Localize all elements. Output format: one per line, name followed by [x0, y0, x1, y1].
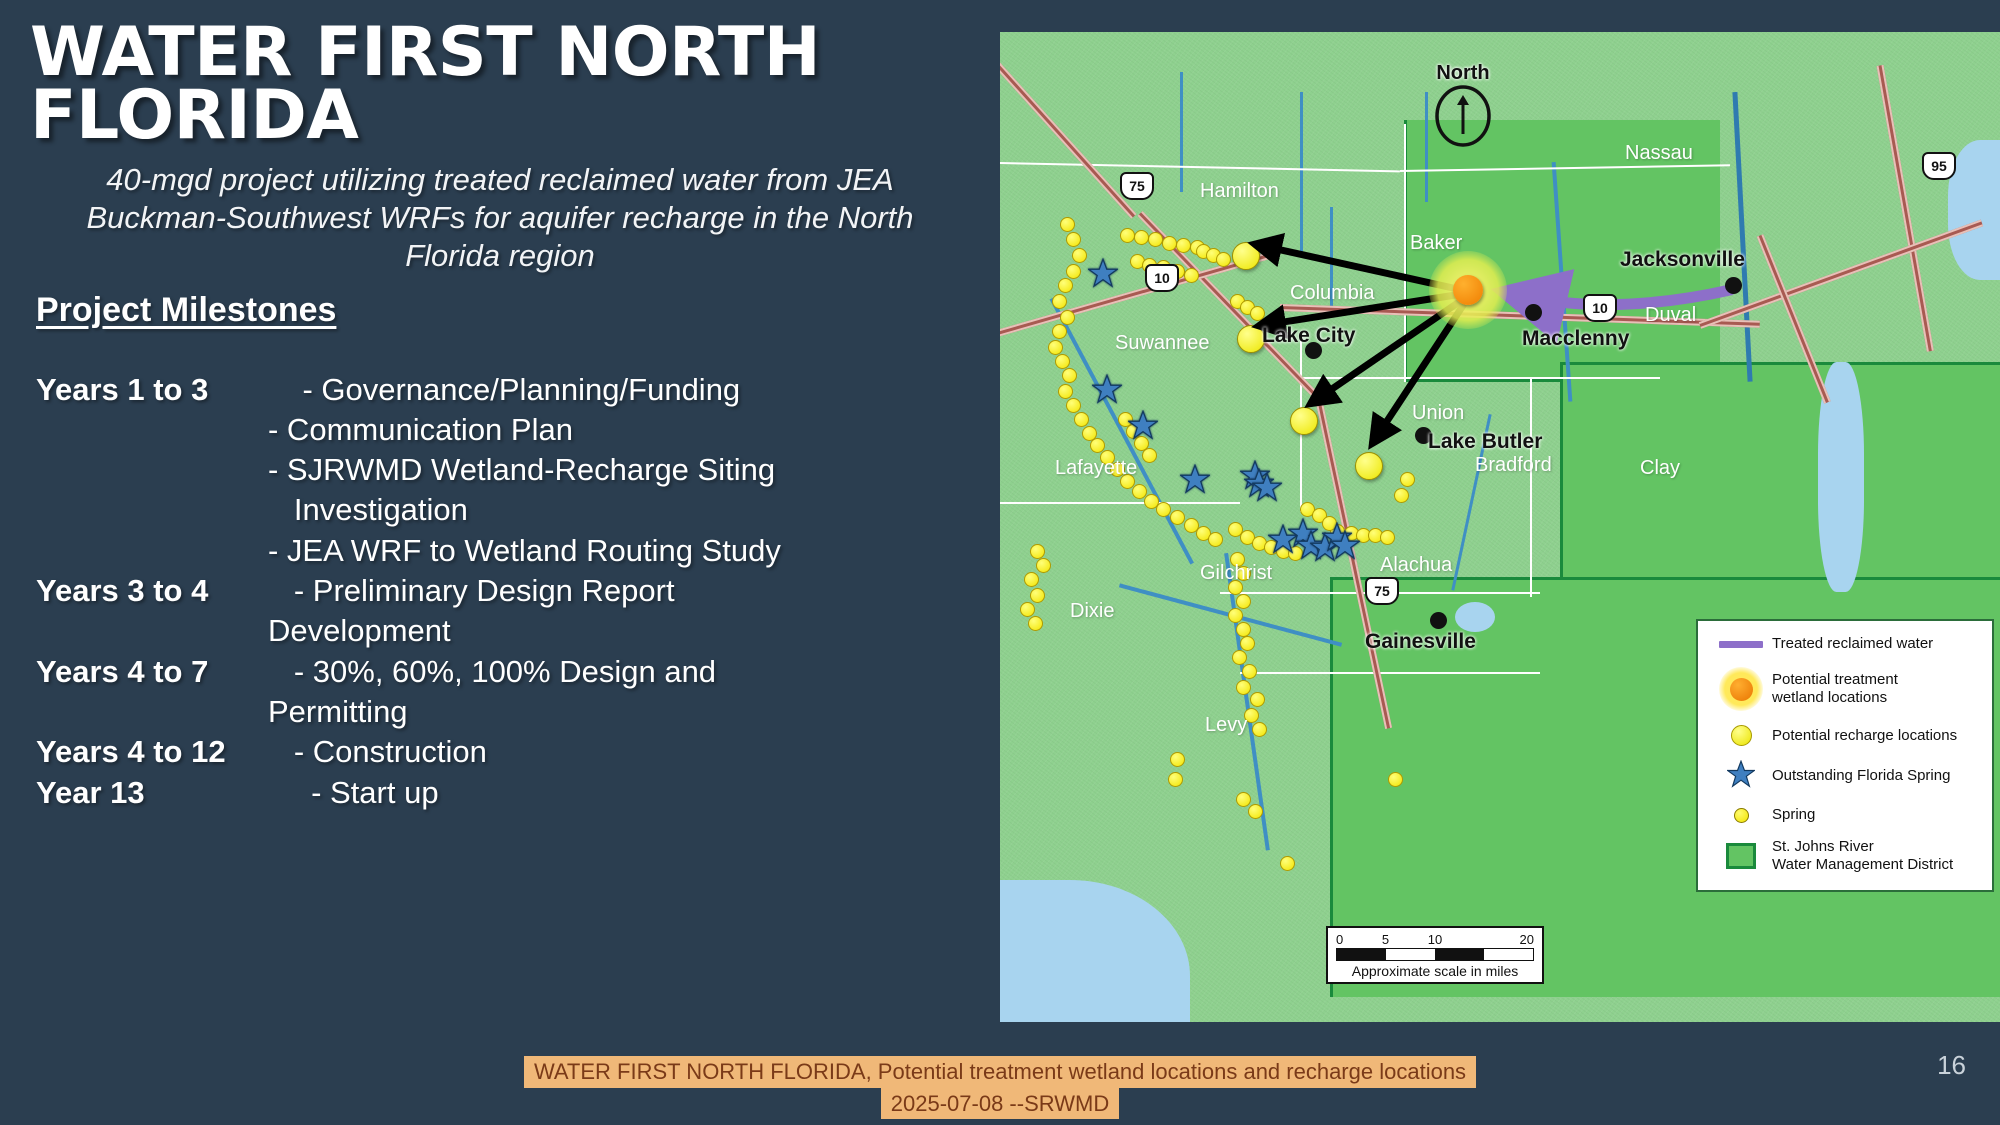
milestone-row: Years 4 to 7 - 30%, 60%, 100% Design and… — [36, 652, 980, 733]
milestone-task: - Construction — [268, 732, 487, 772]
north-arrow: North — [1432, 62, 1494, 152]
north-florida-map: North HamiltonColumbiaSuwanneeLafayetteG… — [1000, 32, 2000, 1022]
recharge-marker-icon — [1731, 725, 1752, 746]
scale-caption: Approximate scale in miles — [1336, 963, 1534, 979]
page-number: 16 — [1937, 1050, 1966, 1081]
milestone-task: - Start up — [268, 773, 439, 813]
city-dot — [1725, 277, 1742, 294]
scale-tick: 0 — [1336, 932, 1343, 947]
milestone-task: Development — [268, 611, 675, 651]
legend-row: Potential treatmentwetland locations — [1710, 667, 1980, 711]
milestone-task: - 30%, 60%, 100% Design and — [268, 652, 716, 692]
project-milestones-list: Years 1 to 3 - Governance/Planning/Fundi… — [30, 370, 980, 813]
milestone-tasks: - Governance/Planning/Funding- Communica… — [268, 370, 781, 571]
county-label: Columbia — [1290, 282, 1374, 305]
treated-reclaimed-water-line-icon — [1719, 641, 1763, 648]
caption-block: WATER FIRST NORTH FLORIDA, Potential tre… — [0, 1056, 2000, 1119]
county-label: Clay — [1640, 457, 1680, 480]
scale-tick: 10 — [1428, 932, 1442, 947]
city-label: Lake City — [1262, 324, 1355, 348]
county-label: Dixie — [1070, 600, 1114, 623]
north-label: North — [1432, 62, 1494, 85]
milestone-tasks: - Start up — [268, 773, 439, 813]
milestone-task: - Preliminary Design Report — [268, 571, 675, 611]
legend-symbol — [1710, 760, 1772, 792]
milestone-task: Investigation — [268, 490, 781, 530]
slide-text-panel: WATER FIRST NORTH FLORIDA 40-mgd project… — [0, 0, 1000, 1125]
legend-symbol — [1710, 808, 1772, 823]
city-dot — [1525, 304, 1542, 321]
scale-blocks — [1336, 948, 1534, 961]
legend-label: St. Johns RiverWater Management District — [1772, 838, 1953, 874]
map-canvas: North HamiltonColumbiaSuwanneeLafayetteG… — [1000, 32, 2000, 1022]
county-label: Gilchrist — [1200, 562, 1272, 585]
map-scale-bar: 051020 Approximate scale in miles — [1326, 926, 1544, 984]
legend-row: Treated reclaimed water — [1710, 635, 1980, 653]
caption-line-1: WATER FIRST NORTH FLORIDA, Potential tre… — [524, 1056, 1476, 1088]
legend-row: St. Johns RiverWater Management District — [1710, 838, 1980, 874]
wetland-marker-icon — [1719, 667, 1763, 711]
milestone-row: Years 4 to 12 - Construction — [36, 732, 980, 772]
project-milestones-heading: Project Milestones — [30, 291, 980, 330]
county-label: Baker — [1410, 232, 1462, 255]
route-shield-icon: 10 — [1583, 294, 1617, 322]
county-label: Levy — [1205, 714, 1247, 737]
milestone-task: - JEA WRF to Wetland Routing Study — [268, 531, 781, 571]
scale-tick: 20 — [1520, 932, 1534, 947]
legend-row: Outstanding Florida Spring — [1710, 760, 1980, 792]
city-label: Gainesville — [1365, 630, 1476, 654]
milestone-row: Years 1 to 3 - Governance/Planning/Fundi… — [36, 370, 980, 571]
city-label: Macclenny — [1522, 327, 1629, 351]
spring-dot-icon — [1734, 808, 1749, 823]
county-label: Duval — [1645, 304, 1696, 327]
milestone-tasks: - Construction — [268, 732, 487, 772]
page-title: WATER FIRST NORTH FLORIDA — [30, 22, 910, 147]
route-shield-icon: 75 — [1365, 577, 1399, 605]
city-dot — [1430, 612, 1447, 629]
legend-label: Treated reclaimed water — [1772, 635, 1933, 653]
county-label: Bradford — [1475, 454, 1552, 477]
milestone-row: Year 13 - Start up — [36, 773, 980, 813]
milestone-row: Years 3 to 4 - Preliminary Design Report… — [36, 571, 980, 652]
wetland-core-icon — [1453, 275, 1483, 305]
map-legend: Treated reclaimed waterPotential treatme… — [1696, 619, 1994, 892]
potential-treatment-wetland-marker — [1429, 251, 1507, 329]
route-shield-icon: 95 — [1922, 152, 1956, 180]
legend-label: Outstanding Florida Spring — [1772, 767, 1950, 785]
legend-symbol — [1710, 725, 1772, 746]
county-label: Lafayette — [1055, 457, 1137, 480]
route-shield-icon: 75 — [1120, 172, 1154, 200]
scale-tick-labels: 051020 — [1336, 932, 1534, 948]
milestone-task: - SJRWMD Wetland-Recharge Siting — [268, 450, 781, 490]
county-label: Hamilton — [1200, 180, 1279, 203]
county-label: Suwannee — [1115, 332, 1210, 355]
legend-symbol — [1710, 641, 1772, 648]
milestone-period: Years 3 to 4 — [36, 571, 268, 611]
legend-label: Spring — [1772, 806, 1815, 824]
legend-symbol — [1710, 843, 1772, 869]
county-label: Union — [1412, 402, 1464, 425]
city-label: Jacksonville — [1620, 248, 1745, 272]
slide-subtitle: 40-mgd project utilizing treated reclaim… — [30, 161, 980, 274]
legend-row: Potential recharge locations — [1710, 725, 1980, 746]
milestone-task: - Communication Plan — [268, 410, 781, 450]
north-arrow-icon — [1432, 85, 1494, 147]
legend-label: Potential treatmentwetland locations — [1772, 671, 1898, 707]
milestone-task: - Governance/Planning/Funding — [268, 370, 781, 410]
milestone-period: Years 4 to 12 — [36, 732, 268, 772]
city-label: Lake Butler — [1428, 430, 1542, 454]
county-label: Nassau — [1625, 142, 1693, 165]
sjrwmd-area-icon — [1726, 843, 1756, 869]
milestone-tasks: - Preliminary Design ReportDevelopment — [268, 571, 675, 652]
route-shield-icon: 10 — [1145, 264, 1179, 292]
milestone-period: Years 4 to 7 — [36, 652, 268, 692]
milestone-period: Years 1 to 3 — [36, 370, 268, 410]
county-label: Alachua — [1380, 554, 1452, 577]
scale-tick: 5 — [1382, 932, 1389, 947]
legend-row: Spring — [1710, 806, 1980, 824]
caption-line-2: 2025-07-08 --SRWMD — [881, 1088, 1119, 1120]
blue-star-icon — [1727, 760, 1755, 792]
legend-label: Potential recharge locations — [1772, 727, 1957, 745]
milestone-tasks: - 30%, 60%, 100% Design andPermitting — [268, 652, 716, 733]
milestone-period: Year 13 — [36, 773, 268, 813]
milestone-task: Permitting — [268, 692, 716, 732]
legend-symbol — [1710, 667, 1772, 711]
